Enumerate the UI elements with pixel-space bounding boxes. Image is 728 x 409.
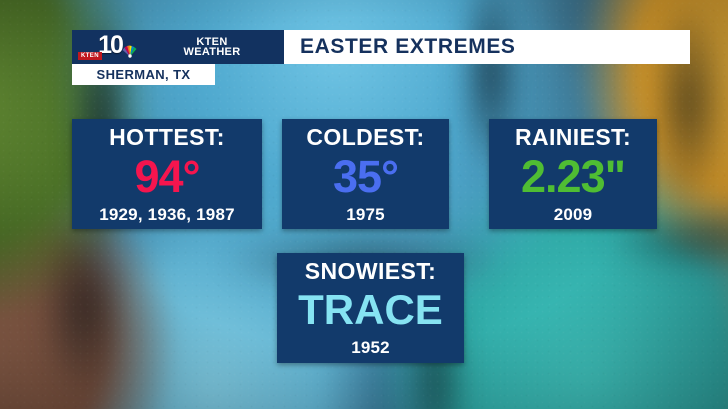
station-logo-block: 10 KTEN KTEN WEATHER — [72, 30, 278, 64]
stat-years: 1929, 1936, 1987 — [99, 206, 235, 223]
stat-card-rainiest: RAINIEST: 2.23" 2009 — [489, 119, 657, 229]
stat-label: HOTTEST: — [109, 126, 225, 149]
stat-card-hottest: HOTTEST: 94° 1929, 1936, 1987 — [72, 119, 262, 229]
brand-line-2: WEATHER — [146, 47, 278, 57]
channel-10-logo-icon: 10 KTEN — [72, 30, 144, 64]
stat-label: RAINIEST: — [515, 126, 631, 149]
stat-card-coldest: COLDEST: 35° 1975 — [282, 119, 449, 229]
city-location-strip: SHERMAN, TX — [72, 64, 215, 85]
stat-label: SNOWIEST: — [305, 260, 436, 283]
stat-value: 35° — [333, 154, 398, 199]
stat-label: COLDEST: — [306, 126, 424, 149]
page-title: EASTER EXTREMES — [284, 30, 690, 64]
nbc-peacock-icon — [120, 41, 140, 61]
stat-card-snowiest: SNOWIEST: TRACE 1952 — [277, 253, 464, 363]
stat-value: 94° — [134, 154, 199, 199]
stat-years: 2009 — [554, 206, 593, 223]
station-brand-text: KTEN WEATHER — [144, 37, 278, 57]
stat-value: 2.23" — [521, 154, 625, 199]
stat-value: TRACE — [298, 289, 443, 331]
kten-badge-label: KTEN — [78, 52, 102, 60]
stat-years: 1975 — [346, 206, 385, 223]
city-label: SHERMAN, TX — [97, 67, 191, 82]
stat-years: 1952 — [351, 339, 390, 356]
header-bar: 10 KTEN KTEN WEATHER EASTER EXTREMES — [72, 30, 690, 64]
